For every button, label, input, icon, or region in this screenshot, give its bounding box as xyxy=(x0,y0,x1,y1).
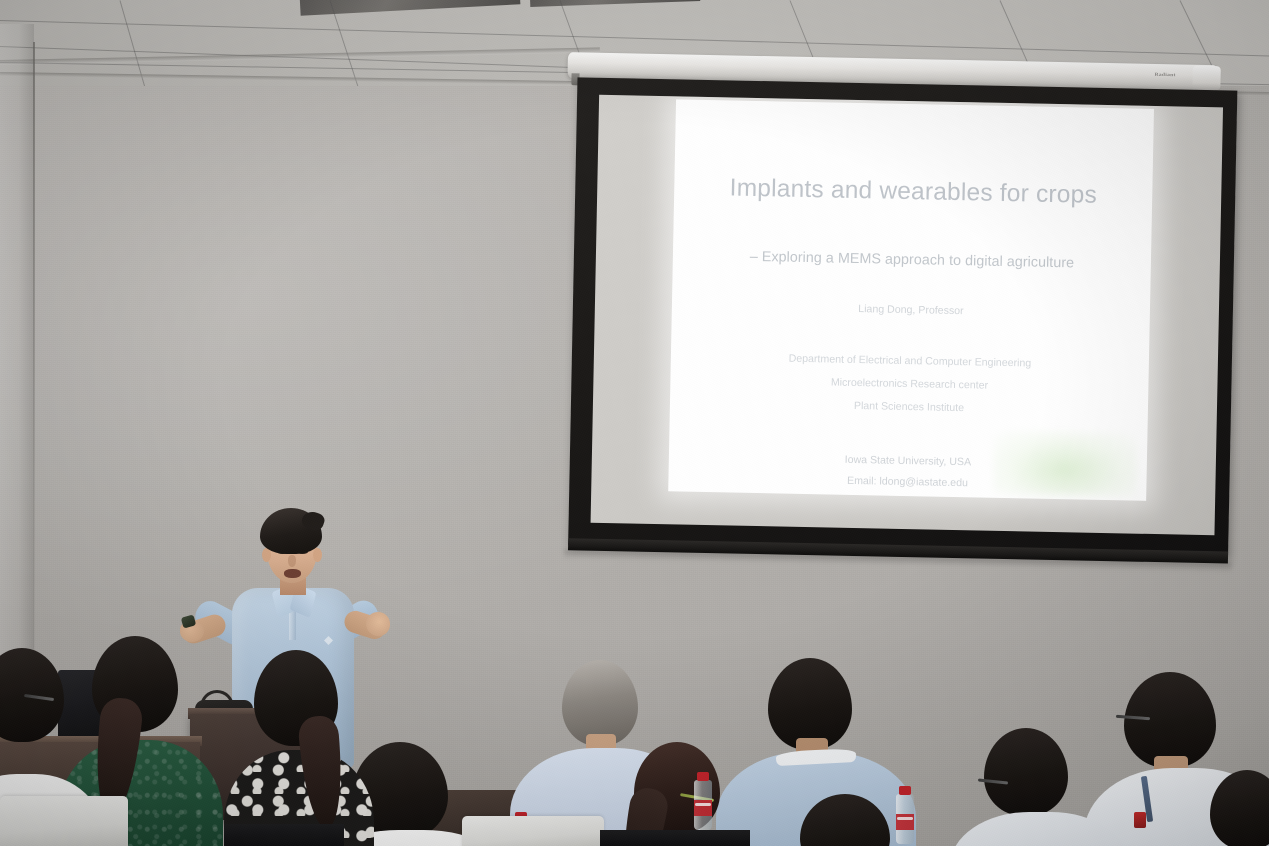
bottle-label-text xyxy=(897,817,913,820)
bottle-cap xyxy=(899,786,911,795)
shoulders xyxy=(950,812,1130,846)
projected-slide: Implants and wearables for crops – Explo… xyxy=(669,100,1154,501)
presenter-nose xyxy=(288,555,296,567)
screen-black-border: Implants and wearables for crops – Explo… xyxy=(568,77,1237,558)
wall-corner-edge xyxy=(33,42,35,702)
slide-content: Implants and wearables for crops – Explo… xyxy=(669,174,1153,501)
tablet-arm-desk xyxy=(224,824,344,846)
audience-member xyxy=(1210,770,1269,846)
screen-surface: Implants and wearables for crops – Explo… xyxy=(591,95,1223,535)
lecture-room-photo: Radiant Implants and wearables for crops… xyxy=(0,0,1269,846)
head xyxy=(1124,672,1216,768)
wall-column xyxy=(0,24,34,724)
head xyxy=(1210,770,1269,846)
chair-back xyxy=(462,816,604,846)
bottle-label-text xyxy=(695,803,711,806)
bottle-cap xyxy=(697,772,709,781)
presenter-right-hand xyxy=(366,612,390,636)
head xyxy=(984,728,1068,816)
water-bottle xyxy=(694,772,712,830)
slide-author: Liang Dong, Professor xyxy=(672,299,1150,321)
screen-brand-logo: Radiant xyxy=(1155,72,1176,78)
slide-subtitle: – Exploring a MEMS approach to digital a… xyxy=(673,247,1151,273)
head xyxy=(800,794,890,846)
audience-member xyxy=(224,650,374,846)
slide-title: Implants and wearables for crops xyxy=(674,174,1152,212)
chair-back xyxy=(0,796,128,846)
audience-member xyxy=(790,794,910,846)
ceiling-vent xyxy=(530,0,700,7)
water-bottle xyxy=(896,786,914,844)
tablet-arm-desk xyxy=(600,830,750,846)
audience-member xyxy=(970,728,1110,846)
ceiling-grid-line xyxy=(0,20,1269,57)
presenter-mouth-open xyxy=(284,569,301,578)
head xyxy=(768,658,852,750)
badge xyxy=(1134,812,1146,828)
screen-housing-end-cap xyxy=(1192,66,1220,91)
projection-screen-assembly: Radiant Implants and wearables for crops… xyxy=(550,52,1260,576)
presenter-ear-right xyxy=(313,548,322,562)
slide-affiliation: Department of Electrical and Computer En… xyxy=(670,346,1149,424)
slide-contact: Iowa State University, USA Email: ldong@… xyxy=(669,446,1147,498)
